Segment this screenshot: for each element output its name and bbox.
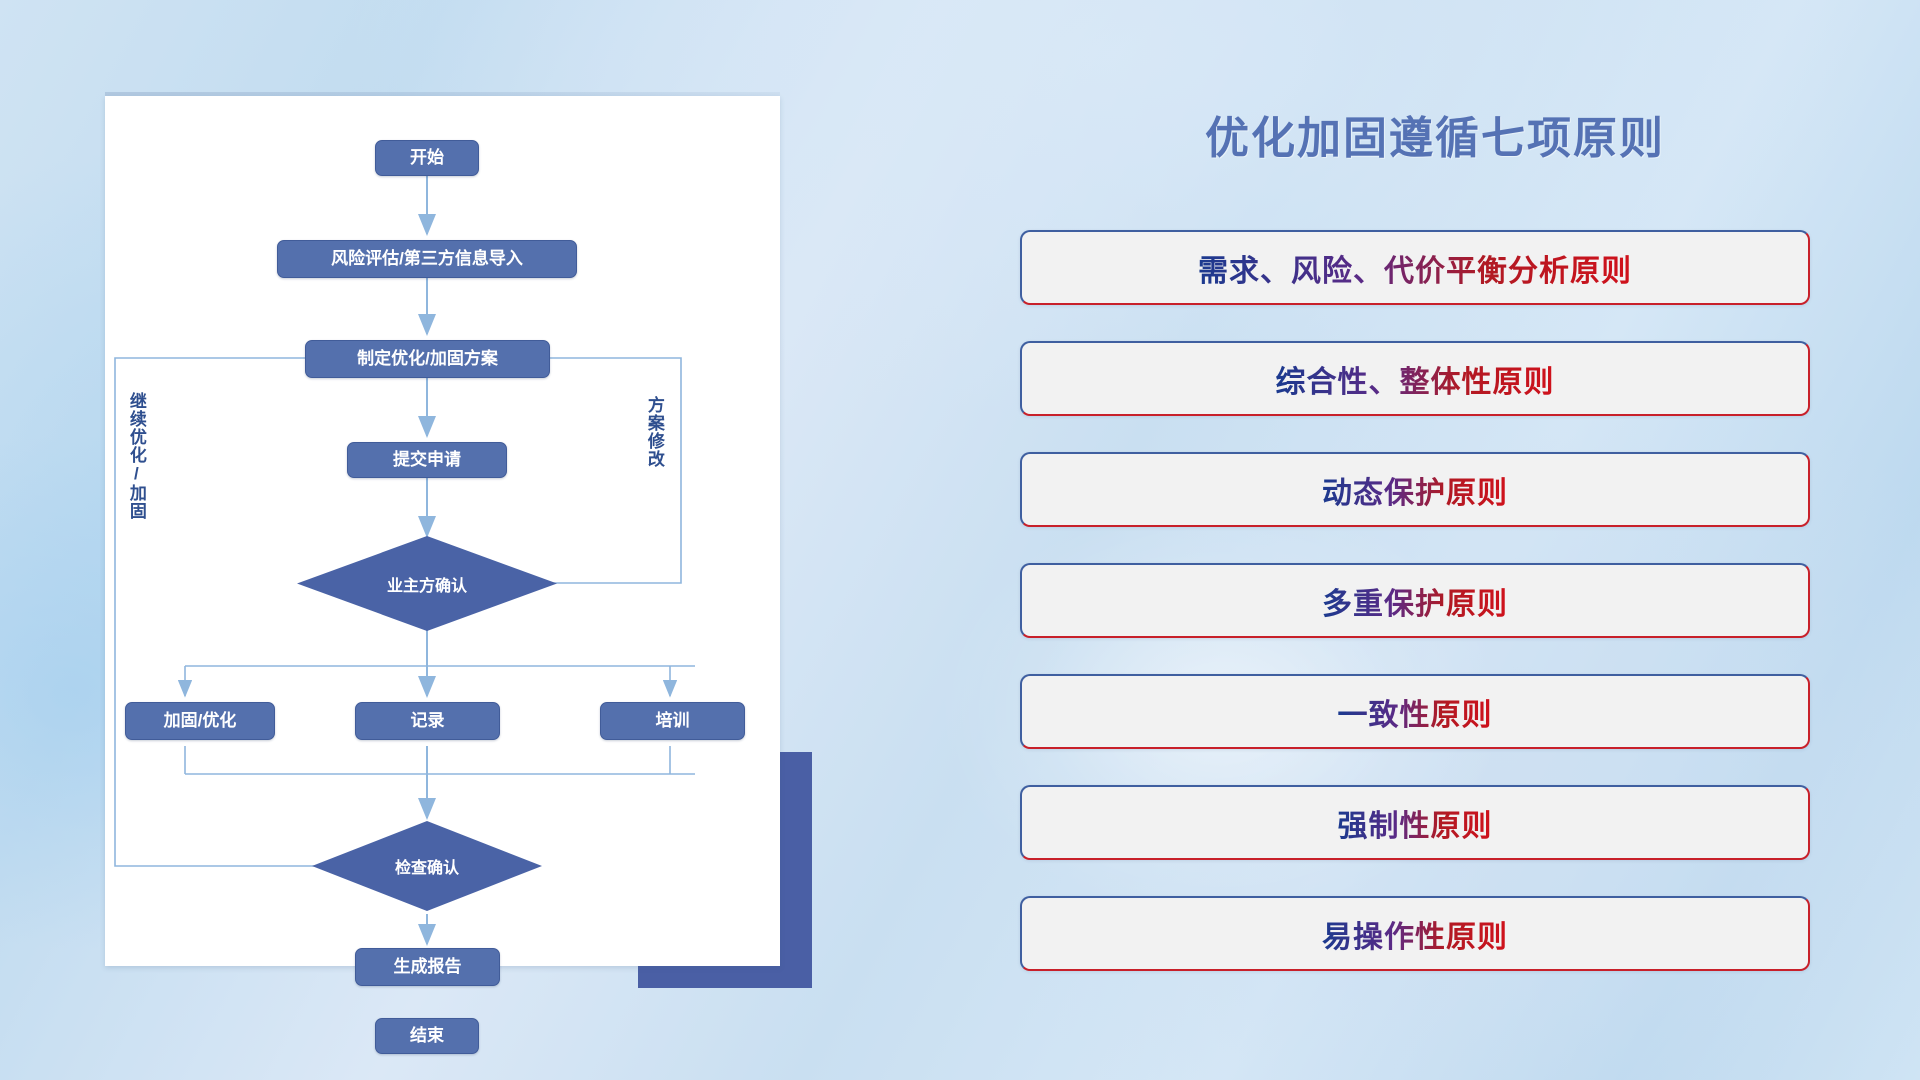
- principles-panel: 优化加固遵循七项原则 需求、风险、代价平衡分析原则 综合性、整体性原则 动态保护…: [1020, 90, 1850, 1030]
- principle-label: 强制性原则: [1338, 801, 1493, 845]
- flow-node-label: 提交申请: [393, 451, 461, 470]
- edge-label-plan-revision: 方案修改: [645, 396, 663, 468]
- flowchart-card: 开始 风险评估/第三方信息导入 制定优化/加固方案 提交申请 业主方确认 加固/…: [105, 96, 780, 966]
- principle-label: 动态保护原则: [1322, 468, 1508, 512]
- edge-label-text: 方案修改: [645, 396, 664, 468]
- panel-title: 优化加固遵循七项原则: [1020, 102, 1850, 166]
- flow-node-owner-confirm[interactable]: 业主方确认: [297, 536, 557, 631]
- flow-node-end[interactable]: 结束: [375, 1018, 479, 1054]
- principle-label: 综合性、整体性原则: [1276, 357, 1555, 401]
- principle-item-6[interactable]: 强制性原则: [1020, 785, 1810, 860]
- principle-label: 需求、风险、代价平衡分析原则: [1198, 246, 1632, 290]
- principle-label: 一致性原则: [1338, 690, 1493, 734]
- flow-node-reinforce[interactable]: 加固/优化: [125, 702, 275, 740]
- flow-node-label: 记录: [411, 712, 445, 731]
- flow-node-label: 生成报告: [394, 958, 462, 977]
- principle-label: 易操作性原则: [1322, 912, 1508, 956]
- flow-node-check-confirm[interactable]: 检查确认: [312, 821, 542, 911]
- flow-node-plan[interactable]: 制定优化/加固方案: [305, 340, 550, 378]
- slide-canvas: 开始 风险评估/第三方信息导入 制定优化/加固方案 提交申请 业主方确认 加固/…: [0, 0, 1920, 1080]
- principle-item-3[interactable]: 动态保护原则: [1020, 452, 1810, 527]
- flow-node-label: 培训: [656, 712, 690, 731]
- principle-label: 多重保护原则: [1322, 579, 1508, 623]
- principle-item-2[interactable]: 综合性、整体性原则: [1020, 341, 1810, 416]
- flow-node-label: 加固/优化: [164, 712, 237, 731]
- flow-node-start[interactable]: 开始: [375, 140, 479, 176]
- flow-node-generate-report[interactable]: 生成报告: [355, 948, 500, 986]
- principle-item-1[interactable]: 需求、风险、代价平衡分析原则: [1020, 230, 1810, 305]
- flow-node-label: 制定优化/加固方案: [357, 350, 498, 369]
- principle-item-7[interactable]: 易操作性原则: [1020, 896, 1810, 971]
- principle-item-5[interactable]: 一致性原则: [1020, 674, 1810, 749]
- edge-label-text: 继续优化/加固: [127, 392, 146, 520]
- edge-label-continue-optimize: 继续优化/加固: [127, 392, 145, 520]
- flow-node-risk-assessment[interactable]: 风险评估/第三方信息导入: [277, 240, 577, 278]
- flow-node-label: 风险评估/第三方信息导入: [331, 250, 523, 269]
- flow-node-training[interactable]: 培训: [600, 702, 745, 740]
- flow-node-label: 开始: [410, 149, 444, 168]
- principle-item-4[interactable]: 多重保护原则: [1020, 563, 1810, 638]
- flow-node-submit-application[interactable]: 提交申请: [347, 442, 507, 478]
- flow-node-label: 结束: [410, 1027, 444, 1046]
- flow-node-record[interactable]: 记录: [355, 702, 500, 740]
- principles-list: 需求、风险、代价平衡分析原则 综合性、整体性原则 动态保护原则 多重保护原则 一…: [1020, 230, 1810, 1007]
